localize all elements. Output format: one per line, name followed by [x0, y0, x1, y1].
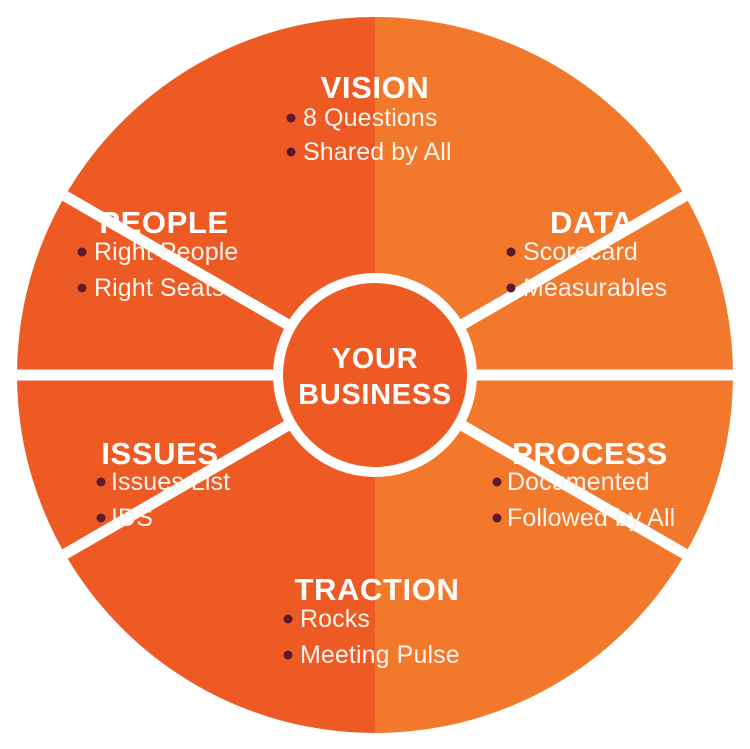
segment-vision-item-0: 8 Questions: [303, 104, 438, 132]
bullet-icon: [287, 114, 296, 123]
segment-traction-item-1: Meeting Pulse: [300, 641, 460, 669]
eos-wheel-diagram: VISION 8 Questions Shared by All DATA Sc…: [0, 0, 750, 749]
segment-data-title: DATA: [550, 205, 634, 240]
bullet-icon: [78, 248, 87, 257]
segment-issues-title: ISSUES: [101, 436, 218, 471]
segment-data-item-1: Measurables: [523, 274, 667, 302]
hub-line-1: YOUR: [332, 343, 419, 375]
segment-process-item-0: Documented: [507, 468, 650, 496]
segment-vision-item-1: Shared by All: [303, 138, 452, 166]
bullet-icon: [97, 478, 106, 487]
bullet-icon: [78, 284, 87, 293]
wheel-canvas: VISION 8 Questions Shared by All DATA Sc…: [0, 0, 750, 749]
bullet-icon: [493, 478, 502, 487]
segment-issues-item-1: IDS: [111, 504, 153, 532]
segment-issues-item-0: Issues List: [111, 468, 230, 496]
segment-people-item-1: Right Seats: [94, 274, 224, 302]
bullet-icon: [507, 284, 516, 293]
segment-process[interactable]: PROCESS Documented Followed by All: [493, 436, 676, 532]
segment-vision-title: VISION: [321, 70, 430, 105]
segment-process-item-1: Followed by All: [507, 504, 675, 532]
segment-people-item-0: Right People: [94, 238, 238, 266]
bullet-icon: [284, 651, 293, 660]
segment-process-title: PROCESS: [512, 436, 668, 471]
hub-your-business[interactable]: YOUR BUSINESS: [278, 278, 472, 472]
segment-traction-item-0: Rocks: [300, 605, 370, 633]
segment-data-item-0: Scorecard: [523, 238, 638, 266]
segment-people-title: PEOPLE: [99, 205, 228, 240]
hub-circle: [278, 278, 472, 472]
hub-line-2: BUSINESS: [298, 379, 452, 411]
bullet-icon: [507, 248, 516, 257]
bullet-icon: [97, 514, 106, 523]
segment-traction-title: TRACTION: [295, 572, 460, 607]
bullet-icon: [493, 514, 502, 523]
bullet-icon: [287, 148, 296, 157]
bullet-icon: [284, 615, 293, 624]
segment-people[interactable]: PEOPLE Right People Right Seats: [78, 205, 239, 302]
